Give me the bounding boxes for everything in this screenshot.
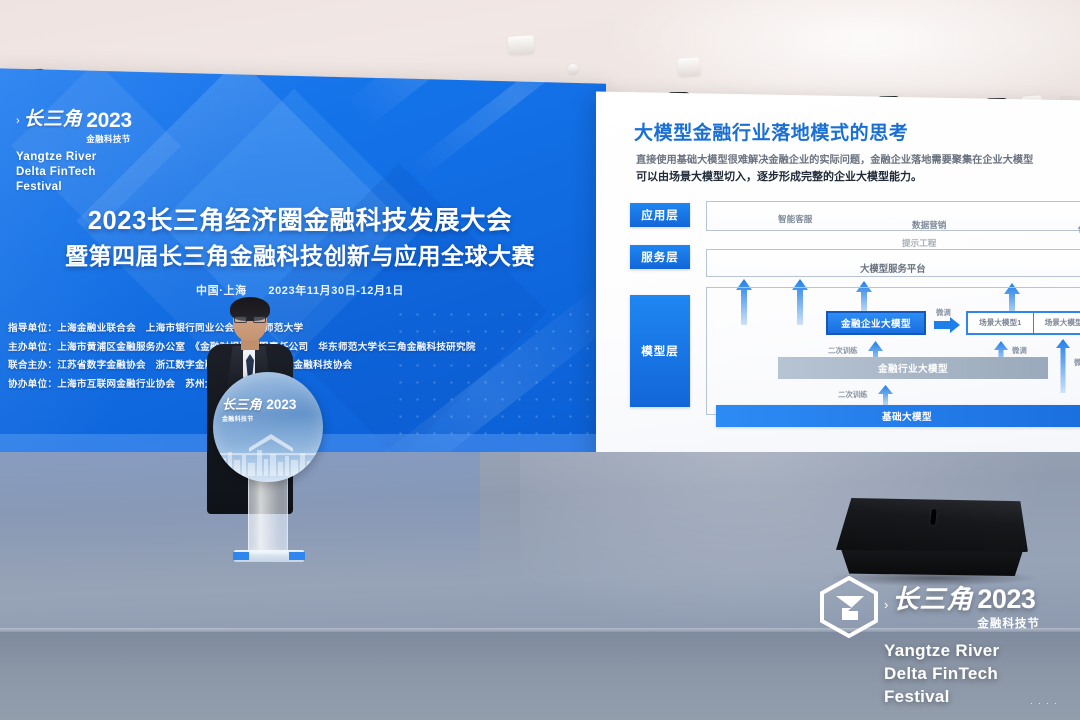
base-model-box: 基础大模型	[716, 405, 1080, 427]
app-item-data-marketing: 数据营销	[912, 219, 946, 231]
ceiling-vent	[507, 35, 534, 55]
service-platform-label: 大模型服务平台	[860, 261, 926, 275]
scene-model-1: 场景大模型1	[968, 313, 1034, 333]
layer-tag-application: 应用层	[630, 203, 690, 227]
stage-front-face	[0, 632, 1080, 720]
backdrop-title-line2: 暨第四届长三角金融科技创新与应用全球大赛	[0, 239, 606, 274]
event-dates: 2023年11月30日-12月1日	[268, 285, 404, 297]
podium-logo-disc: 长三角 2023 金融科技节	[213, 372, 323, 482]
presentation-screen: 大模型金融行业落地模式的思考 直接使用基础大模型很难解决金融企业的实际问题，金融…	[596, 91, 1080, 468]
podium-logo-sub: 金融科技节	[222, 414, 314, 423]
logo-year: 2023	[86, 109, 132, 132]
slide-lead-line2: 可以由场景大模型切入，逐步形成完整的企业大模型能力。	[636, 169, 1080, 187]
logo-en-line3: Festival	[16, 180, 166, 195]
stage-monitor-speaker	[826, 498, 1036, 584]
backdrop-logo: › 长三角 2023 金融科技节 Yangtze River Delta Fin…	[16, 110, 166, 196]
slide-lead-text: 直接使用基础大模型很难解决金融企业的实际问题，金融企业落地需要聚集在企业大模型 …	[636, 153, 1080, 187]
monitor-handle-slot	[930, 509, 937, 525]
tuning-annotation: 微调	[1012, 345, 1027, 356]
logo-en-line2: Delta FinTech	[16, 165, 166, 180]
finetune-annotation: 二次训练	[838, 389, 868, 400]
backdrop-title: 2023长三角经济圈金融科技发展大会 暨第四届长三角金融科技创新与应用全球大赛	[0, 204, 606, 274]
application-layer-panel	[706, 201, 1080, 231]
conference-stage-photo: › 长三角 2023 金融科技节 Yangtze River Delta Fin…	[0, 0, 1080, 720]
enterprise-model-box: 金融企业大模型	[826, 311, 926, 335]
event-location: 中国·上海	[196, 285, 247, 297]
up-arrow-icon	[878, 385, 893, 407]
layer-tag-model: 模型层	[630, 295, 690, 407]
tuning-annotation: 微调	[1074, 357, 1080, 368]
podium-logo-cn: 长三角	[222, 397, 262, 412]
app-item-smart-service: 智能客服	[778, 213, 812, 225]
podium-base	[234, 550, 304, 562]
backdrop-light-streak	[406, 68, 606, 182]
podium-logo-year: 2023	[266, 397, 296, 412]
backdrop-title-line1: 2023长三角经济圈金融科技发展大会	[0, 204, 606, 239]
industry-model-box: 金融行业大模型	[778, 357, 1048, 379]
scene-model-2: 场景大模型2	[1034, 313, 1080, 333]
ceiling-sensor	[568, 64, 579, 75]
slide-title: 大模型金融行业落地模式的思考	[634, 118, 1080, 145]
glasses-icon	[234, 316, 266, 323]
logo-subtitle-cn: 金融科技节	[86, 133, 132, 145]
layer-tag-service: 服务层	[630, 245, 690, 269]
slide-diagram: 应用层 服务层 模型层 智能客服 数据营销 代码 提示工程 大模型服务平台	[630, 199, 1080, 435]
scene-model-group: 场景大模型1 场景大模型2	[966, 311, 1080, 335]
backdrop-date-location: 中国·上海 2023年11月30日-12月1日	[0, 282, 606, 298]
monitor-top-face	[836, 498, 1028, 552]
logo-en-line1: Yangtze River	[16, 150, 166, 165]
podium: 长三角 2023 金融科技节	[213, 372, 323, 566]
finetune-annotation: 二次训练	[828, 345, 858, 356]
ceiling-vent	[677, 57, 700, 76]
logo-arrow-icon: ›	[16, 116, 20, 127]
prompt-engineering-note: 提示工程	[902, 237, 936, 249]
skyline-icon	[219, 430, 317, 476]
tuning-annotation: 微调	[936, 307, 951, 318]
logo-chinese-name: 长三角	[24, 110, 83, 129]
up-arrow-icon	[1056, 339, 1070, 393]
podium-logo: 长三角 2023 金融科技节	[222, 394, 314, 423]
slide-lead-line1: 直接使用基础大模型很难解决金融企业的实际问题，金融企业落地需要聚集在企业大模型	[636, 153, 1080, 169]
right-arrow-icon	[934, 317, 960, 338]
